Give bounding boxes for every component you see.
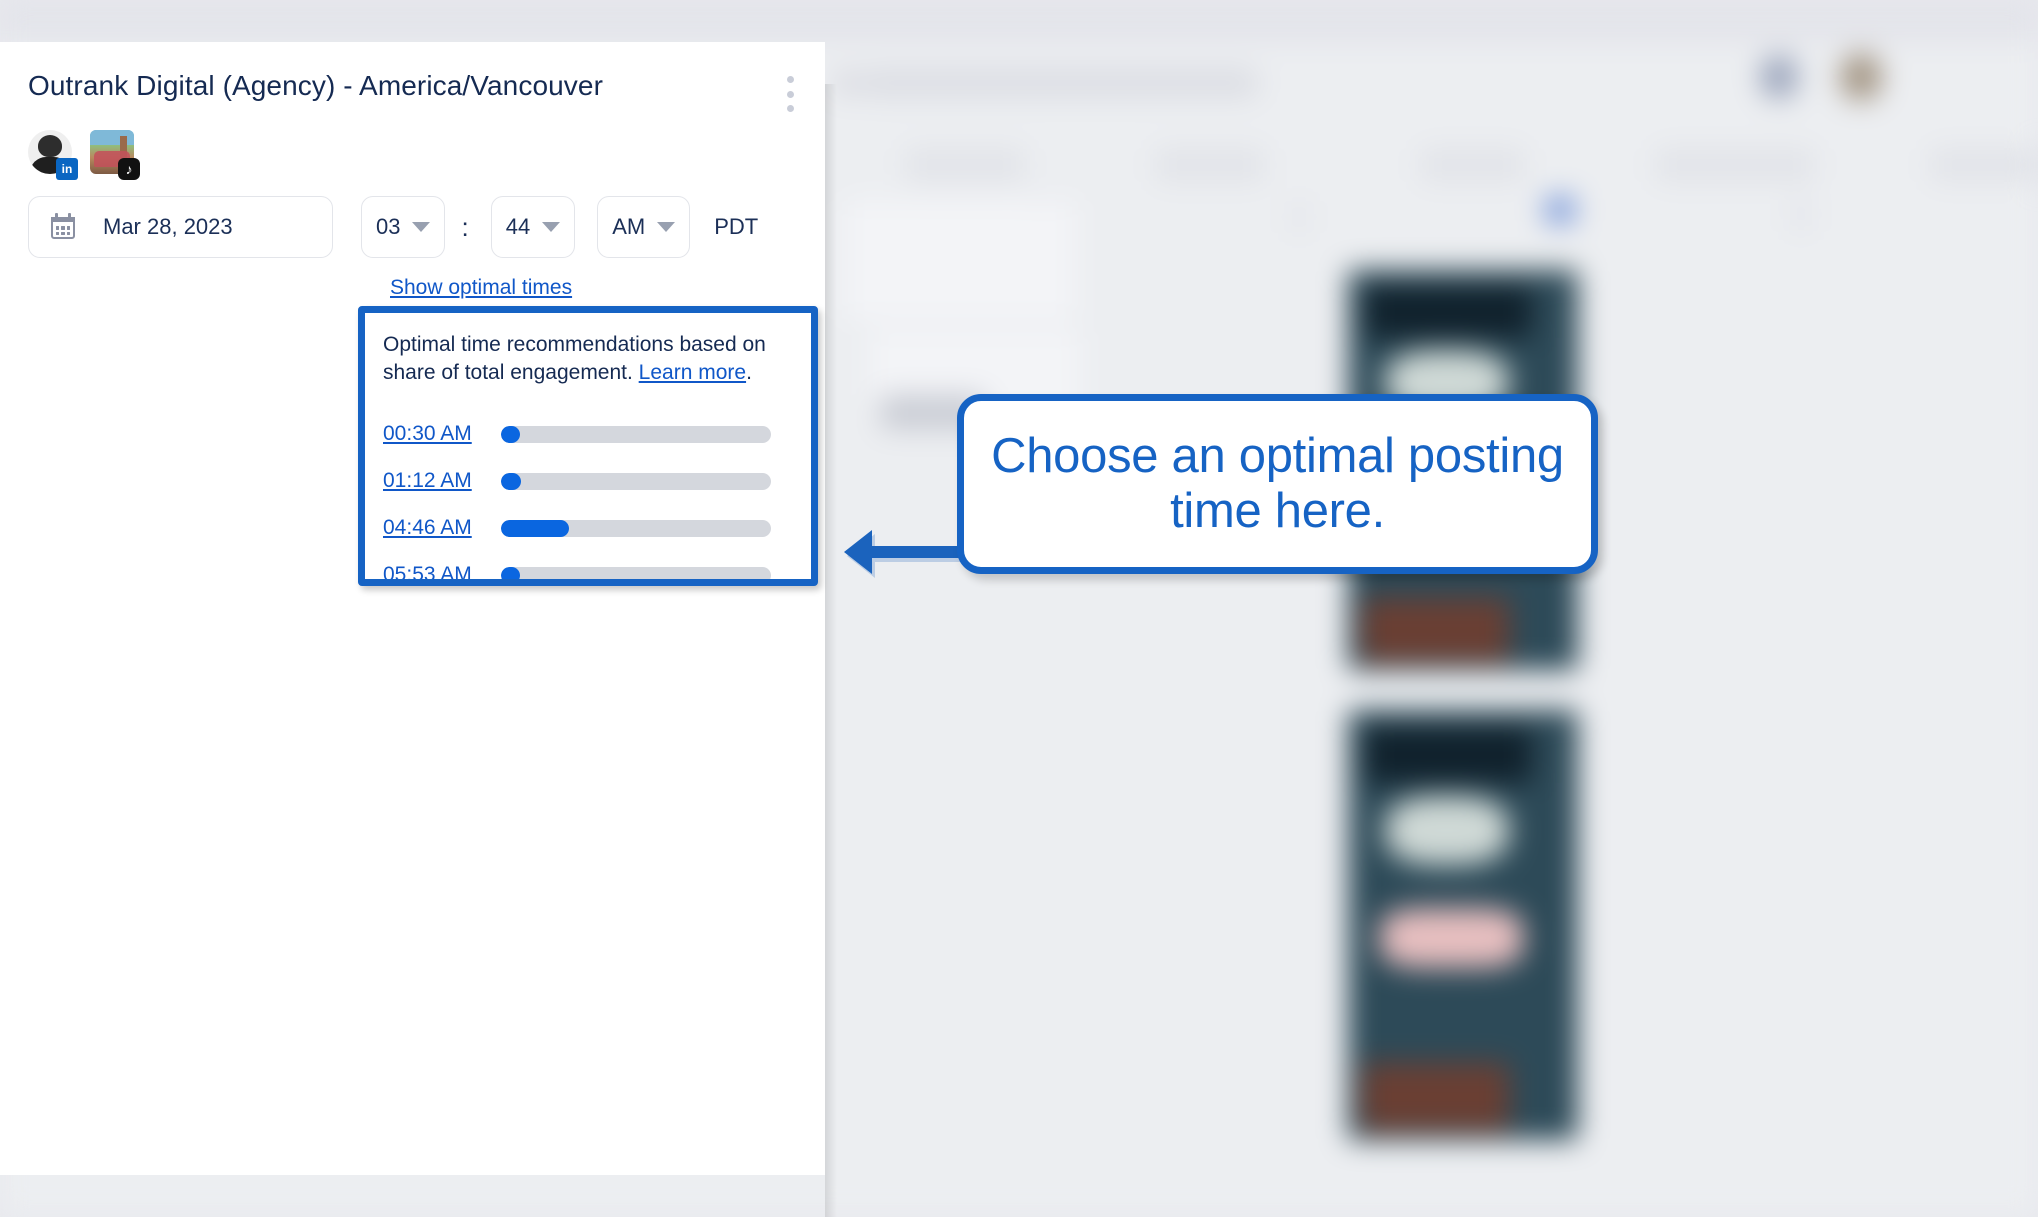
- hour-value: 03: [376, 214, 400, 240]
- engagement-bar-track: [501, 520, 771, 537]
- engagement-bar-track: [501, 426, 771, 443]
- minute-select[interactable]: 44: [491, 196, 575, 258]
- minute-value: 44: [506, 214, 530, 240]
- background-tab-5: [1930, 148, 2038, 182]
- optimal-description-tail: .: [746, 361, 752, 384]
- optimal-time-row[interactable]: 05:53 AM: [383, 552, 793, 579]
- callout-bubble: Choose an optimal posting time here.: [957, 394, 1598, 574]
- background-tab-4: [1655, 148, 1815, 182]
- more-options-icon[interactable]: [779, 76, 801, 112]
- engagement-bar-track: [501, 567, 771, 579]
- hour-select[interactable]: 03: [361, 196, 445, 258]
- optimal-time-link[interactable]: 05:53 AM: [383, 563, 501, 579]
- callout-text: Choose an optimal posting time here.: [964, 429, 1591, 539]
- tiktok-icon: ♪: [118, 158, 140, 180]
- optimal-time-row[interactable]: 04:46 AM: [383, 505, 793, 552]
- meridiem-value: AM: [612, 214, 645, 240]
- background-media-thumbnail-2: [1348, 710, 1578, 1140]
- optimal-times-list: 00:30 AM01:12 AM04:46 AM05:53 AM04:35 PM…: [383, 411, 793, 579]
- avatar-linkedin[interactable]: in: [28, 130, 72, 174]
- chevron-down-icon: [657, 222, 675, 232]
- date-field[interactable]: Mar 28, 2023: [28, 196, 333, 258]
- background-avatar-two: [1840, 53, 1882, 101]
- meridiem-select[interactable]: AM: [597, 196, 690, 258]
- engagement-bar-fill: [501, 520, 569, 537]
- optimal-times-description: Optimal time recommendations based on sh…: [383, 331, 793, 387]
- engagement-bar-fill: [501, 567, 520, 579]
- optimal-time-row[interactable]: 01:12 AM: [383, 458, 793, 505]
- avatar-tiktok[interactable]: ♪: [90, 130, 134, 174]
- optimal-time-link[interactable]: 04:46 AM: [383, 516, 501, 540]
- background-chip-3: [1790, 198, 1812, 232]
- background-card-1: [845, 200, 1075, 320]
- calendar-icon: [51, 214, 77, 240]
- engagement-bar-fill: [501, 426, 520, 443]
- learn-more-link[interactable]: Learn more: [639, 361, 746, 384]
- background-tab-1: [905, 148, 1025, 182]
- page-title: Outrank Digital (Agency) - America/Vanco…: [28, 70, 797, 102]
- browser-topbar: [0, 0, 2038, 42]
- chevron-down-icon: [542, 222, 560, 232]
- connected-accounts: in ♪: [28, 124, 797, 174]
- browser-url-pill: [860, 68, 1260, 98]
- show-optimal-times-link[interactable]: Show optimal times: [390, 276, 572, 300]
- background-avatar-one: [1760, 55, 1798, 99]
- chevron-down-icon: [412, 222, 430, 232]
- optimal-time-link[interactable]: 01:12 AM: [383, 469, 501, 493]
- time-separator: :: [461, 212, 468, 243]
- background-active-button: [1545, 196, 1575, 224]
- optimal-times-dropdown: Optimal time recommendations based on sh…: [365, 313, 811, 579]
- optimal-time-link[interactable]: 00:30 AM: [383, 422, 501, 446]
- schedule-row: Mar 28, 2023 03 : 44 AM PDT: [28, 196, 797, 258]
- linkedin-icon: in: [56, 158, 78, 180]
- engagement-bar-fill: [501, 473, 521, 490]
- background-chip-2: [1290, 200, 1308, 234]
- schedule-composer-panel: Outrank Digital (Agency) - America/Vanco…: [0, 42, 825, 1175]
- background-tab-3: [1420, 148, 1525, 182]
- background-tab-2: [1155, 148, 1265, 182]
- panel-shadow: [825, 84, 837, 1217]
- optimal-times-highlight: Optimal time recommendations based on sh…: [358, 306, 818, 586]
- engagement-bar-track: [501, 473, 771, 490]
- timezone-label: PDT: [714, 214, 758, 240]
- date-value: Mar 28, 2023: [103, 214, 233, 240]
- optimal-time-row[interactable]: 00:30 AM: [383, 411, 793, 458]
